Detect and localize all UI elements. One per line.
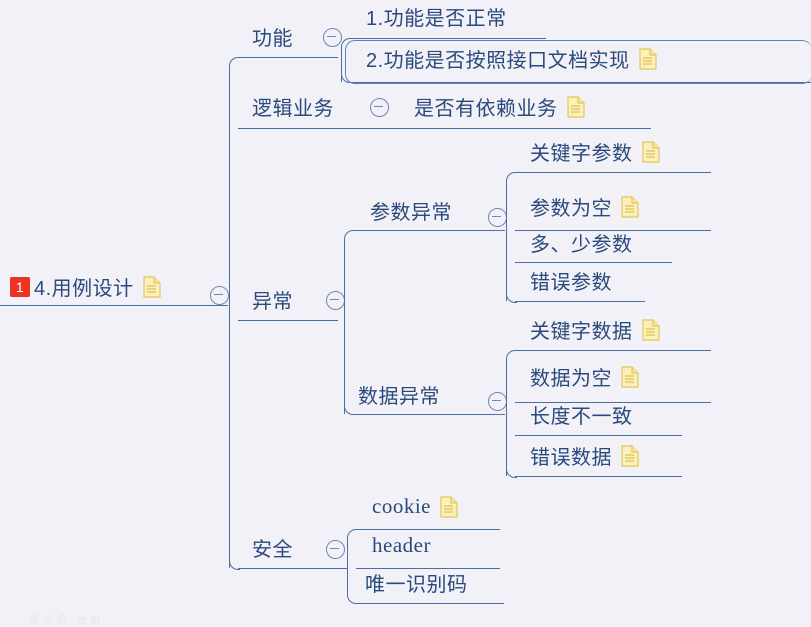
node-leaf-canshuweikong-label: 参数为空 xyxy=(530,192,612,221)
subtrunk-elbow-shuju-top xyxy=(506,350,517,361)
subtrunk-elbow-canshu-top xyxy=(506,172,517,183)
node-leaf-duoshaocanshu-label: 多、少参数 xyxy=(530,228,633,257)
node-leaf-cuowushuju[interactable]: 错误数据 xyxy=(530,441,639,470)
node-root[interactable]: 1 4.用例设计 xyxy=(10,272,161,301)
leaf-underline-weiyishibiema xyxy=(356,603,504,604)
node-branch-shujuyichang[interactable]: 数据异常 xyxy=(358,380,440,409)
node-leaf-guanjianzishuju-label: 关键字数据 xyxy=(530,315,633,344)
node-leaf-shujuweikong[interactable]: 数据为空 xyxy=(530,362,639,391)
node-leaf-header[interactable]: header xyxy=(372,533,431,558)
leaf-underline-1 xyxy=(350,38,546,39)
node-root-label: 4.用例设计 xyxy=(34,272,134,301)
branch-underline-canshuyichang xyxy=(353,230,505,231)
node-leaf-cookie[interactable]: cookie xyxy=(372,494,458,519)
note-icon[interactable] xyxy=(642,141,660,163)
node-leaf-changdubuyizhi-label: 长度不一致 xyxy=(530,400,633,429)
collapse-toggle-icon[interactable] xyxy=(488,208,507,227)
collapse-toggle-icon[interactable] xyxy=(370,98,389,117)
node-leaf-canshuweikong[interactable]: 参数为空 xyxy=(530,192,639,221)
mindmap-canvas[interactable]: 1 4.用例设计 功能 1.功能是否正常 xyxy=(0,0,811,623)
note-icon[interactable] xyxy=(567,96,585,118)
note-icon[interactable] xyxy=(621,445,639,467)
leaf-underline-cuowushuju xyxy=(515,476,682,477)
collapse-toggle-anquan[interactable] xyxy=(326,540,345,559)
node-branch-gongneng-label: 功能 xyxy=(252,22,293,51)
node-branch-canshuyichang[interactable]: 参数异常 xyxy=(370,196,452,225)
branch-underline-gongneng xyxy=(238,57,338,58)
leaf-underline-cookie xyxy=(356,529,500,530)
node-branch-shujuyichang-label: 数据异常 xyxy=(358,380,440,409)
subtrunk-elbow-gongneng-top xyxy=(341,38,352,49)
branch-underline-shujuyichang xyxy=(353,414,505,415)
node-leaf-gongneng-2[interactable]: 2.功能是否按照接口文档实现 xyxy=(366,44,657,73)
collapse-toggle-canshuyichang[interactable] xyxy=(488,208,507,227)
node-leaf-guanjianzicanshu[interactable]: 关键字参数 xyxy=(530,137,660,166)
note-icon[interactable] xyxy=(642,319,660,341)
node-leaf-weiyishibiema-label: 唯一识别码 xyxy=(365,568,468,597)
priority-badge-icon: 1 xyxy=(10,277,30,297)
subtrunk-elbow-anquan-top xyxy=(347,529,358,540)
leaf-underline-cuowucanshu xyxy=(515,301,645,302)
collapse-toggle-yichang[interactable] xyxy=(326,291,345,310)
root-underline xyxy=(0,305,228,306)
collapse-toggle-icon[interactable] xyxy=(326,291,345,310)
node-leaf-gongneng-1-label: 1.功能是否正常 xyxy=(366,2,507,31)
subtrunk-elbow-yichang-top xyxy=(344,230,355,241)
node-branch-gongneng[interactable]: 功能 xyxy=(252,22,293,51)
note-icon[interactable] xyxy=(621,196,639,218)
subtrunk-line-canshu xyxy=(506,181,507,301)
node-branch-anquan[interactable]: 安全 xyxy=(252,533,293,562)
collapse-toggle-gongneng[interactable] xyxy=(323,28,342,47)
node-leaf-guanjianzicanshu-label: 关键字参数 xyxy=(530,137,633,166)
node-leaf-gongneng-2-label: 2.功能是否按照接口文档实现 xyxy=(366,44,630,73)
collapse-toggle-icon[interactable] xyxy=(210,286,229,305)
collapse-toggle-shujuyichang[interactable] xyxy=(488,392,507,411)
subtrunk-line-shuju xyxy=(506,359,507,476)
leaf-underline-guanjianzicanshu xyxy=(515,172,711,173)
node-leaf-weiyishibiema[interactable]: 唯一识别码 xyxy=(365,568,468,597)
note-icon[interactable] xyxy=(621,366,639,388)
note-icon[interactable] xyxy=(639,48,657,70)
node-leaf-luojiyewu-1-label: 是否有依赖业务 xyxy=(414,92,558,121)
node-branch-anquan-label: 安全 xyxy=(252,533,293,562)
note-icon[interactable] xyxy=(440,496,458,518)
node-leaf-cuowucanshu[interactable]: 错误参数 xyxy=(530,266,612,295)
node-leaf-changdubuyizhi[interactable]: 长度不一致 xyxy=(530,400,633,429)
trunk-elbow-top xyxy=(229,57,240,68)
node-leaf-luojiyewu-1[interactable]: 是否有依赖业务 xyxy=(414,92,585,121)
leaf-underline-changdubuyizhi xyxy=(515,435,682,436)
node-leaf-cookie-label: cookie xyxy=(372,494,431,519)
branch-underline-anquan xyxy=(238,568,348,569)
collapse-toggle-luojiyewu[interactable] xyxy=(370,98,389,117)
node-branch-canshuyichang-label: 参数异常 xyxy=(370,196,452,225)
branch-underline-luojiyewu xyxy=(238,128,651,129)
leaf-underline-duoshaocanshu xyxy=(515,262,672,263)
node-leaf-guanjianzishuju[interactable]: 关键字数据 xyxy=(530,315,660,344)
subtrunk-line-anquan xyxy=(347,538,348,594)
collapse-toggle-root[interactable] xyxy=(210,286,229,305)
collapse-toggle-icon[interactable] xyxy=(326,540,345,559)
collapse-toggle-icon[interactable] xyxy=(488,392,507,411)
footer-ghost-text: 测试点 分析 xyxy=(28,611,104,627)
note-icon[interactable] xyxy=(143,276,161,298)
node-leaf-gongneng-1[interactable]: 1.功能是否正常 xyxy=(366,2,507,31)
leaf-underline-guanjianzishuju xyxy=(515,350,711,351)
node-branch-yichang[interactable]: 异常 xyxy=(252,285,293,314)
node-leaf-cuowushuju-label: 错误数据 xyxy=(530,441,612,470)
branch-underline-yichang xyxy=(238,320,338,321)
subtrunk-line-yichang xyxy=(344,239,345,414)
node-leaf-cuowucanshu-label: 错误参数 xyxy=(530,266,612,295)
leaf-underline-2 xyxy=(350,82,811,83)
node-branch-luojiyewu-label: 逻辑业务 xyxy=(252,92,334,121)
collapse-toggle-icon[interactable] xyxy=(323,28,342,47)
node-leaf-header-label: header xyxy=(372,533,431,558)
node-branch-luojiyewu[interactable]: 逻辑业务 xyxy=(252,92,334,121)
main-trunk-line xyxy=(229,66,230,568)
node-branch-yichang-label: 异常 xyxy=(252,285,293,314)
node-leaf-duoshaocanshu[interactable]: 多、少参数 xyxy=(530,228,633,257)
node-leaf-shujuweikong-label: 数据为空 xyxy=(530,362,612,391)
